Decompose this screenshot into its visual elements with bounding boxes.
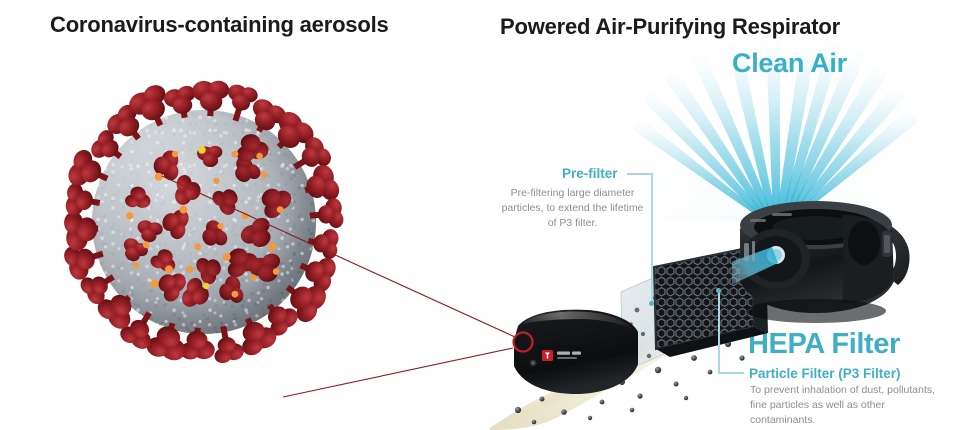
pre-filter-leader-vertical [651,173,653,303]
coronavirus-illustration [44,62,364,392]
hepa-leader-vertical [718,290,720,373]
pre-filter-annotation-title: Pre-filter [562,166,618,181]
clean-air-label: Clean Air [732,48,847,79]
pre-filter-leader-endpoint [649,301,654,306]
left-panel-title: Coronavirus-containing aerosols [50,12,389,38]
virus-spikes-layer [44,62,364,392]
respirator-blower-unit [732,185,917,325]
face-mask [506,306,646,398]
pre-filter-annotation-body: Pre-filtering large diameter particles, … [500,186,645,231]
hepa-leader-endpoint [716,288,721,293]
pre-filter-leader-horizontal [627,173,653,175]
hepa-leader-horizontal [718,372,744,374]
figure-canvas: Coronavirus-containing aerosols [0,0,959,430]
